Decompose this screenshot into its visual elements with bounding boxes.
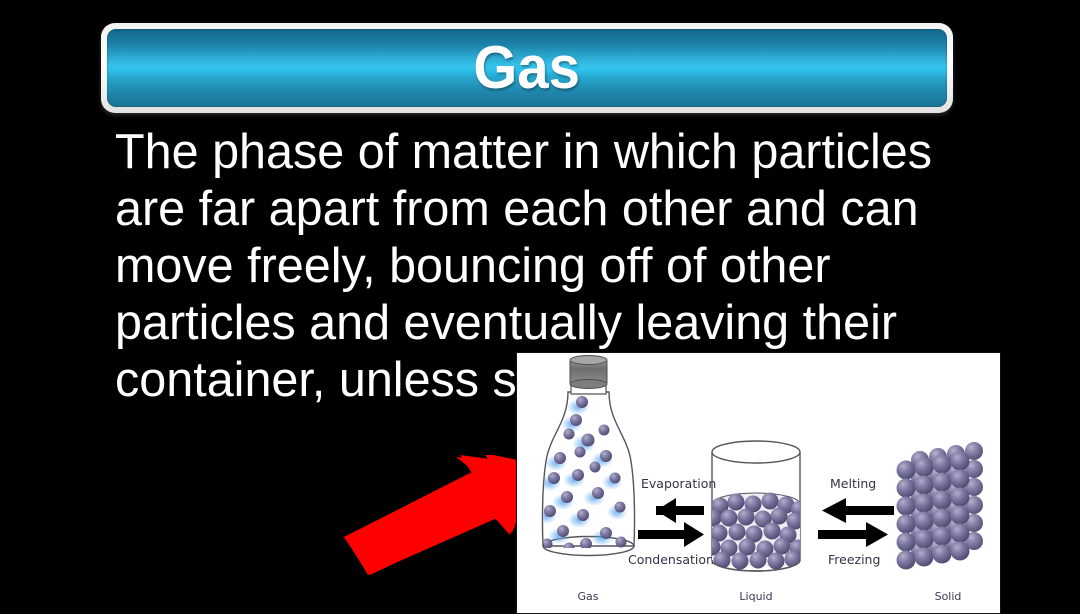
title-banner: Gas <box>101 23 953 113</box>
transition-label-condensation: Condensation <box>628 552 714 567</box>
red-arrow-icon <box>344 455 534 575</box>
state-caption-gas: Gas <box>578 590 599 603</box>
title-banner-fill: Gas <box>107 29 947 107</box>
state-caption-solid: Solid <box>935 590 962 603</box>
slide-canvas: Gas The phase of matter in which particl… <box>0 0 1080 607</box>
transition-label-evaporation: Evaporation <box>641 476 716 491</box>
page-title: Gas <box>474 38 581 98</box>
state-caption-liquid: Liquid <box>739 590 772 603</box>
transition-label-melting: Melting <box>830 476 876 491</box>
states-of-matter-diagram: Gas Evaporation Condensation <box>516 352 1001 614</box>
transition-label-freezing: Freezing <box>828 552 880 567</box>
